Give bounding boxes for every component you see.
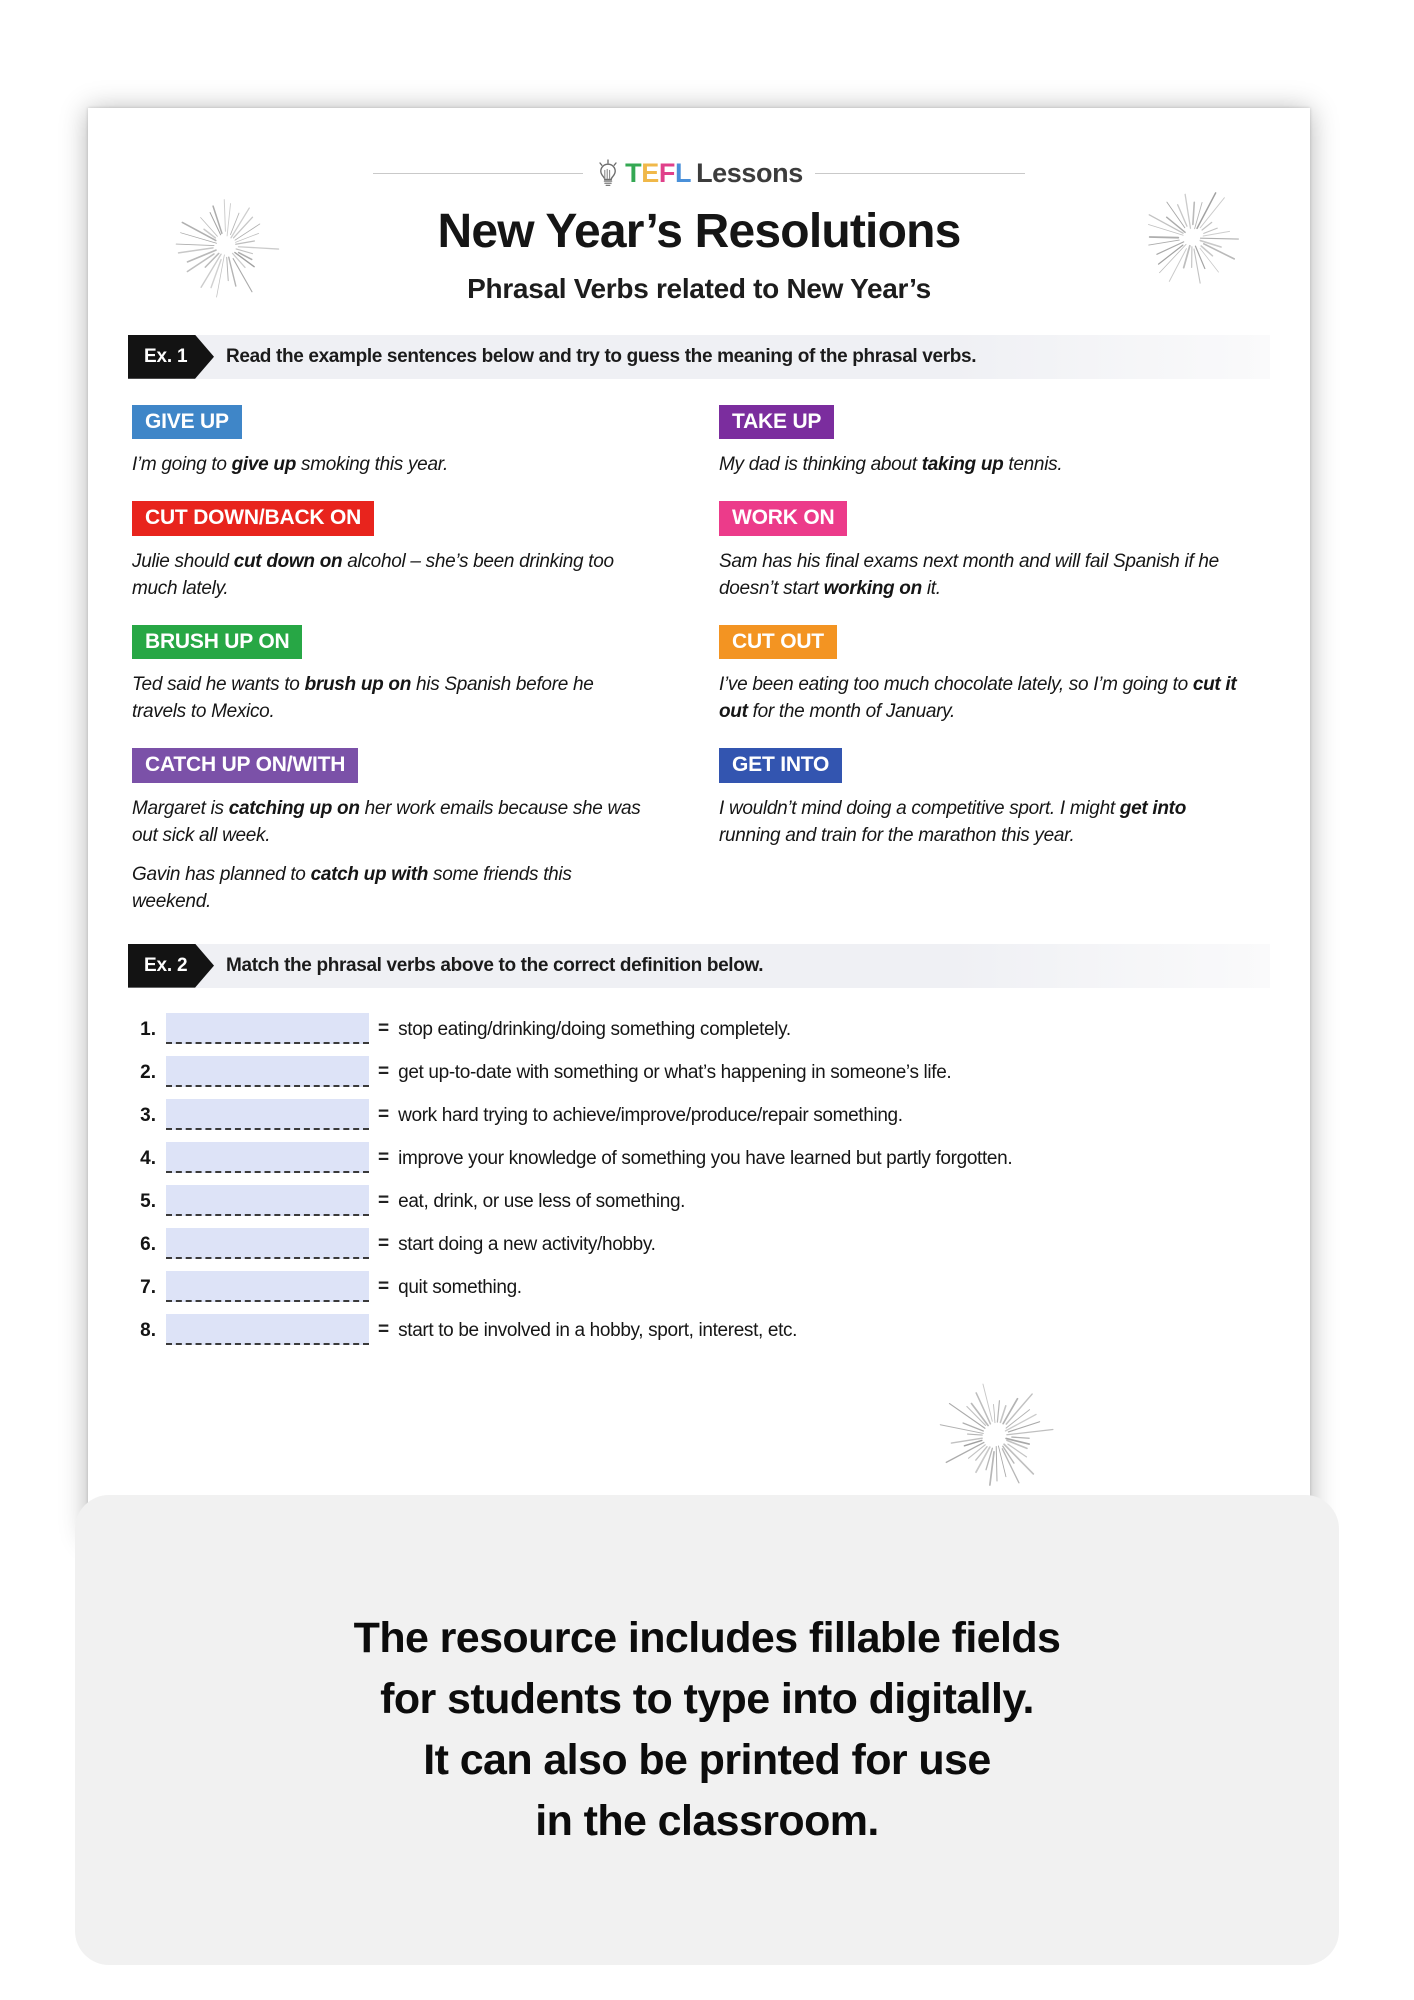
answer-definition: stop eating/drinking/doing something com… [398,1016,791,1044]
answer-input-4[interactable] [166,1142,369,1173]
answer-number: 3. [132,1102,166,1130]
answer-list: 1.=stop eating/drinking/doing something … [132,1010,1266,1345]
answer-definition: start doing a new activity/hobby. [398,1231,655,1259]
answer-row: 3.=work hard trying to achieve/improve/p… [132,1096,1266,1130]
phrasal-verb-item: CATCH UP ON/WITHMargaret is catching up … [132,748,679,915]
phrasal-verb-highlight: working on [824,578,922,599]
answer-definition: quit something. [398,1274,522,1302]
answer-input-2[interactable] [166,1056,369,1087]
phrasal-verb-example-sentence: I’ve been eating too much chocolate late… [719,672,1239,726]
phrasal-verb-chip: BRUSH UP ON [132,625,302,660]
answer-definition: start to be involved in a hobby, sport, … [398,1317,797,1345]
answer-row: 5.=eat, drink, or use less of something. [132,1182,1266,1216]
phrasal-verb-chip: GIVE UP [132,405,242,440]
firework-burst-icon-bottom [932,1372,1060,1500]
answer-number: 4. [132,1145,166,1173]
phrasal-verb-item: BRUSH UP ONTed said he wants to brush up… [132,625,679,726]
phrasal-verb-chip: CUT OUT [719,625,837,660]
phrasal-verb-item: GIVE UPI’m going to give up smoking this… [132,405,679,479]
answer-number: 2. [132,1059,166,1087]
answer-definition: improve your knowledge of something you … [398,1145,1012,1173]
phrasal-verb-highlight: cut it out [719,674,1236,722]
phrasal-verb-item: CUT DOWN/BACK ONJulie should cut down on… [132,501,679,602]
phrasal-verb-chip: CATCH UP ON/WITH [132,748,358,783]
equals-sign: = [378,1058,389,1086]
worksheet-page: TEFLLessons New Year’s Resolutions Phras… [88,108,1310,1536]
answer-row: 2.=get up-to-date with something or what… [132,1053,1266,1087]
brand-rule-right [815,173,1025,174]
equals-sign: = [378,1230,389,1258]
phrasal-verb-example-sentence: Ted said he wants to brush up on his Spa… [132,672,652,726]
answer-definition: work hard trying to achieve/improve/prod… [398,1102,903,1130]
answer-row: 4.=improve your knowledge of something y… [132,1139,1266,1173]
equals-sign: = [378,1101,389,1129]
answer-input-1[interactable] [166,1013,369,1044]
phrasal-verb-highlight: brush up on [305,674,411,695]
phrasal-verb-example-sentence: Margaret is catching up on her work emai… [132,796,652,850]
brand-wordmark: TEFLLessons [625,158,803,189]
caption-card: The resource includes fillable fields fo… [75,1495,1339,1965]
brand-letter-e: E [641,158,659,188]
phrasal-verb-example-sentence: Sam has his final exams next month and w… [719,549,1239,603]
answer-input-6[interactable] [166,1228,369,1259]
answer-input-5[interactable] [166,1185,369,1216]
brand-bar: TEFLLessons [88,156,1310,190]
answer-input-7[interactable] [166,1271,369,1302]
phrasal-verb-chip: WORK ON [719,501,847,536]
phrasal-verb-highlight: taking up [922,454,1004,475]
brand-rule-left [373,173,583,174]
caption-line-2: for students to type into digitally. [380,1669,1034,1730]
exercise-1-banner: Ex. 1 Read the example sentences below a… [128,335,1270,379]
caption-line-4: in the classroom. [535,1791,878,1852]
phrasal-verb-highlight: catch up with [311,864,429,885]
answer-definition: eat, drink, or use less of something. [398,1188,685,1216]
answer-input-8[interactable] [166,1314,369,1345]
answer-number: 7. [132,1274,166,1302]
phrasal-verb-example-sentence: I’m going to give up smoking this year. [132,452,652,479]
answer-row: 8.=start to be involved in a hobby, spor… [132,1311,1266,1345]
answer-input-3[interactable] [166,1099,369,1130]
caption-line-3: It can also be printed for use [423,1730,990,1791]
firework-burst-icon-left [166,186,286,306]
brand-letter-f: F [659,158,675,188]
answer-number: 6. [132,1231,166,1259]
phrasal-verb-item: WORK ONSam has his final exams next mont… [719,501,1266,602]
phrasal-verb-grid: GIVE UPI’m going to give up smoking this… [132,405,1266,938]
phrasal-verb-example-sentence: I wouldn’t mind doing a competitive spor… [719,796,1239,850]
phrasal-verb-example-sentence: Julie should cut down on alcohol – she’s… [132,549,652,603]
phrasal-verb-example-sentence: Gavin has planned to catch up with some … [132,862,652,916]
equals-sign: = [378,1187,389,1215]
equals-sign: = [378,1015,389,1043]
phrasal-verb-item: TAKE UPMy dad is thinking about taking u… [719,405,1266,479]
equals-sign: = [378,1316,389,1344]
phrasal-verb-chip: CUT DOWN/BACK ON [132,501,374,536]
brand-letter-t: T [625,158,641,188]
lightbulb-icon [595,159,621,187]
answer-number: 8. [132,1317,166,1345]
answer-row: 7.=quit something. [132,1268,1266,1302]
brand-logo: TEFLLessons [583,158,815,189]
equals-sign: = [378,1273,389,1301]
answer-definition: get up-to-date with something or what’s … [398,1059,951,1087]
answer-row: 1.=stop eating/drinking/doing something … [132,1010,1266,1044]
brand-letter-l: L [675,158,691,188]
phrasal-verb-column-right: TAKE UPMy dad is thinking about taking u… [719,405,1266,938]
answer-number: 5. [132,1188,166,1216]
phrasal-verb-highlight: give up [232,454,296,475]
brand-word-lessons: Lessons [696,158,803,188]
phrasal-verb-item: GET INTOI wouldn’t mind doing a competit… [719,748,1266,849]
exercise-2-instruction: Match the phrasal verbs above to the cor… [226,955,763,977]
phrasal-verb-chip: TAKE UP [719,405,834,440]
phrasal-verb-highlight: catching up on [229,798,360,819]
exercise-1-tag: Ex. 1 [128,335,214,379]
exercise-2-tag: Ex. 2 [128,944,214,988]
equals-sign: = [378,1144,389,1172]
answer-number: 1. [132,1016,166,1044]
firework-burst-icon-right [1136,182,1248,294]
caption-line-1: The resource includes fillable fields [354,1608,1061,1669]
phrasal-verb-highlight: cut down on [234,551,343,572]
exercise-1-instruction: Read the example sentences below and try… [226,346,976,368]
phrasal-verb-highlight: get into [1120,798,1186,819]
phrasal-verb-chip: GET INTO [719,748,842,783]
phrasal-verb-column-left: GIVE UPI’m going to give up smoking this… [132,405,679,938]
exercise-2-banner: Ex. 2 Match the phrasal verbs above to t… [128,944,1270,988]
answer-row: 6.=start doing a new activity/hobby. [132,1225,1266,1259]
phrasal-verb-example-sentence: My dad is thinking about taking up tenni… [719,452,1239,479]
page-root: TEFLLessons New Year’s Resolutions Phras… [0,0,1414,2000]
phrasal-verb-item: CUT OUTI’ve been eating too much chocola… [719,625,1266,726]
